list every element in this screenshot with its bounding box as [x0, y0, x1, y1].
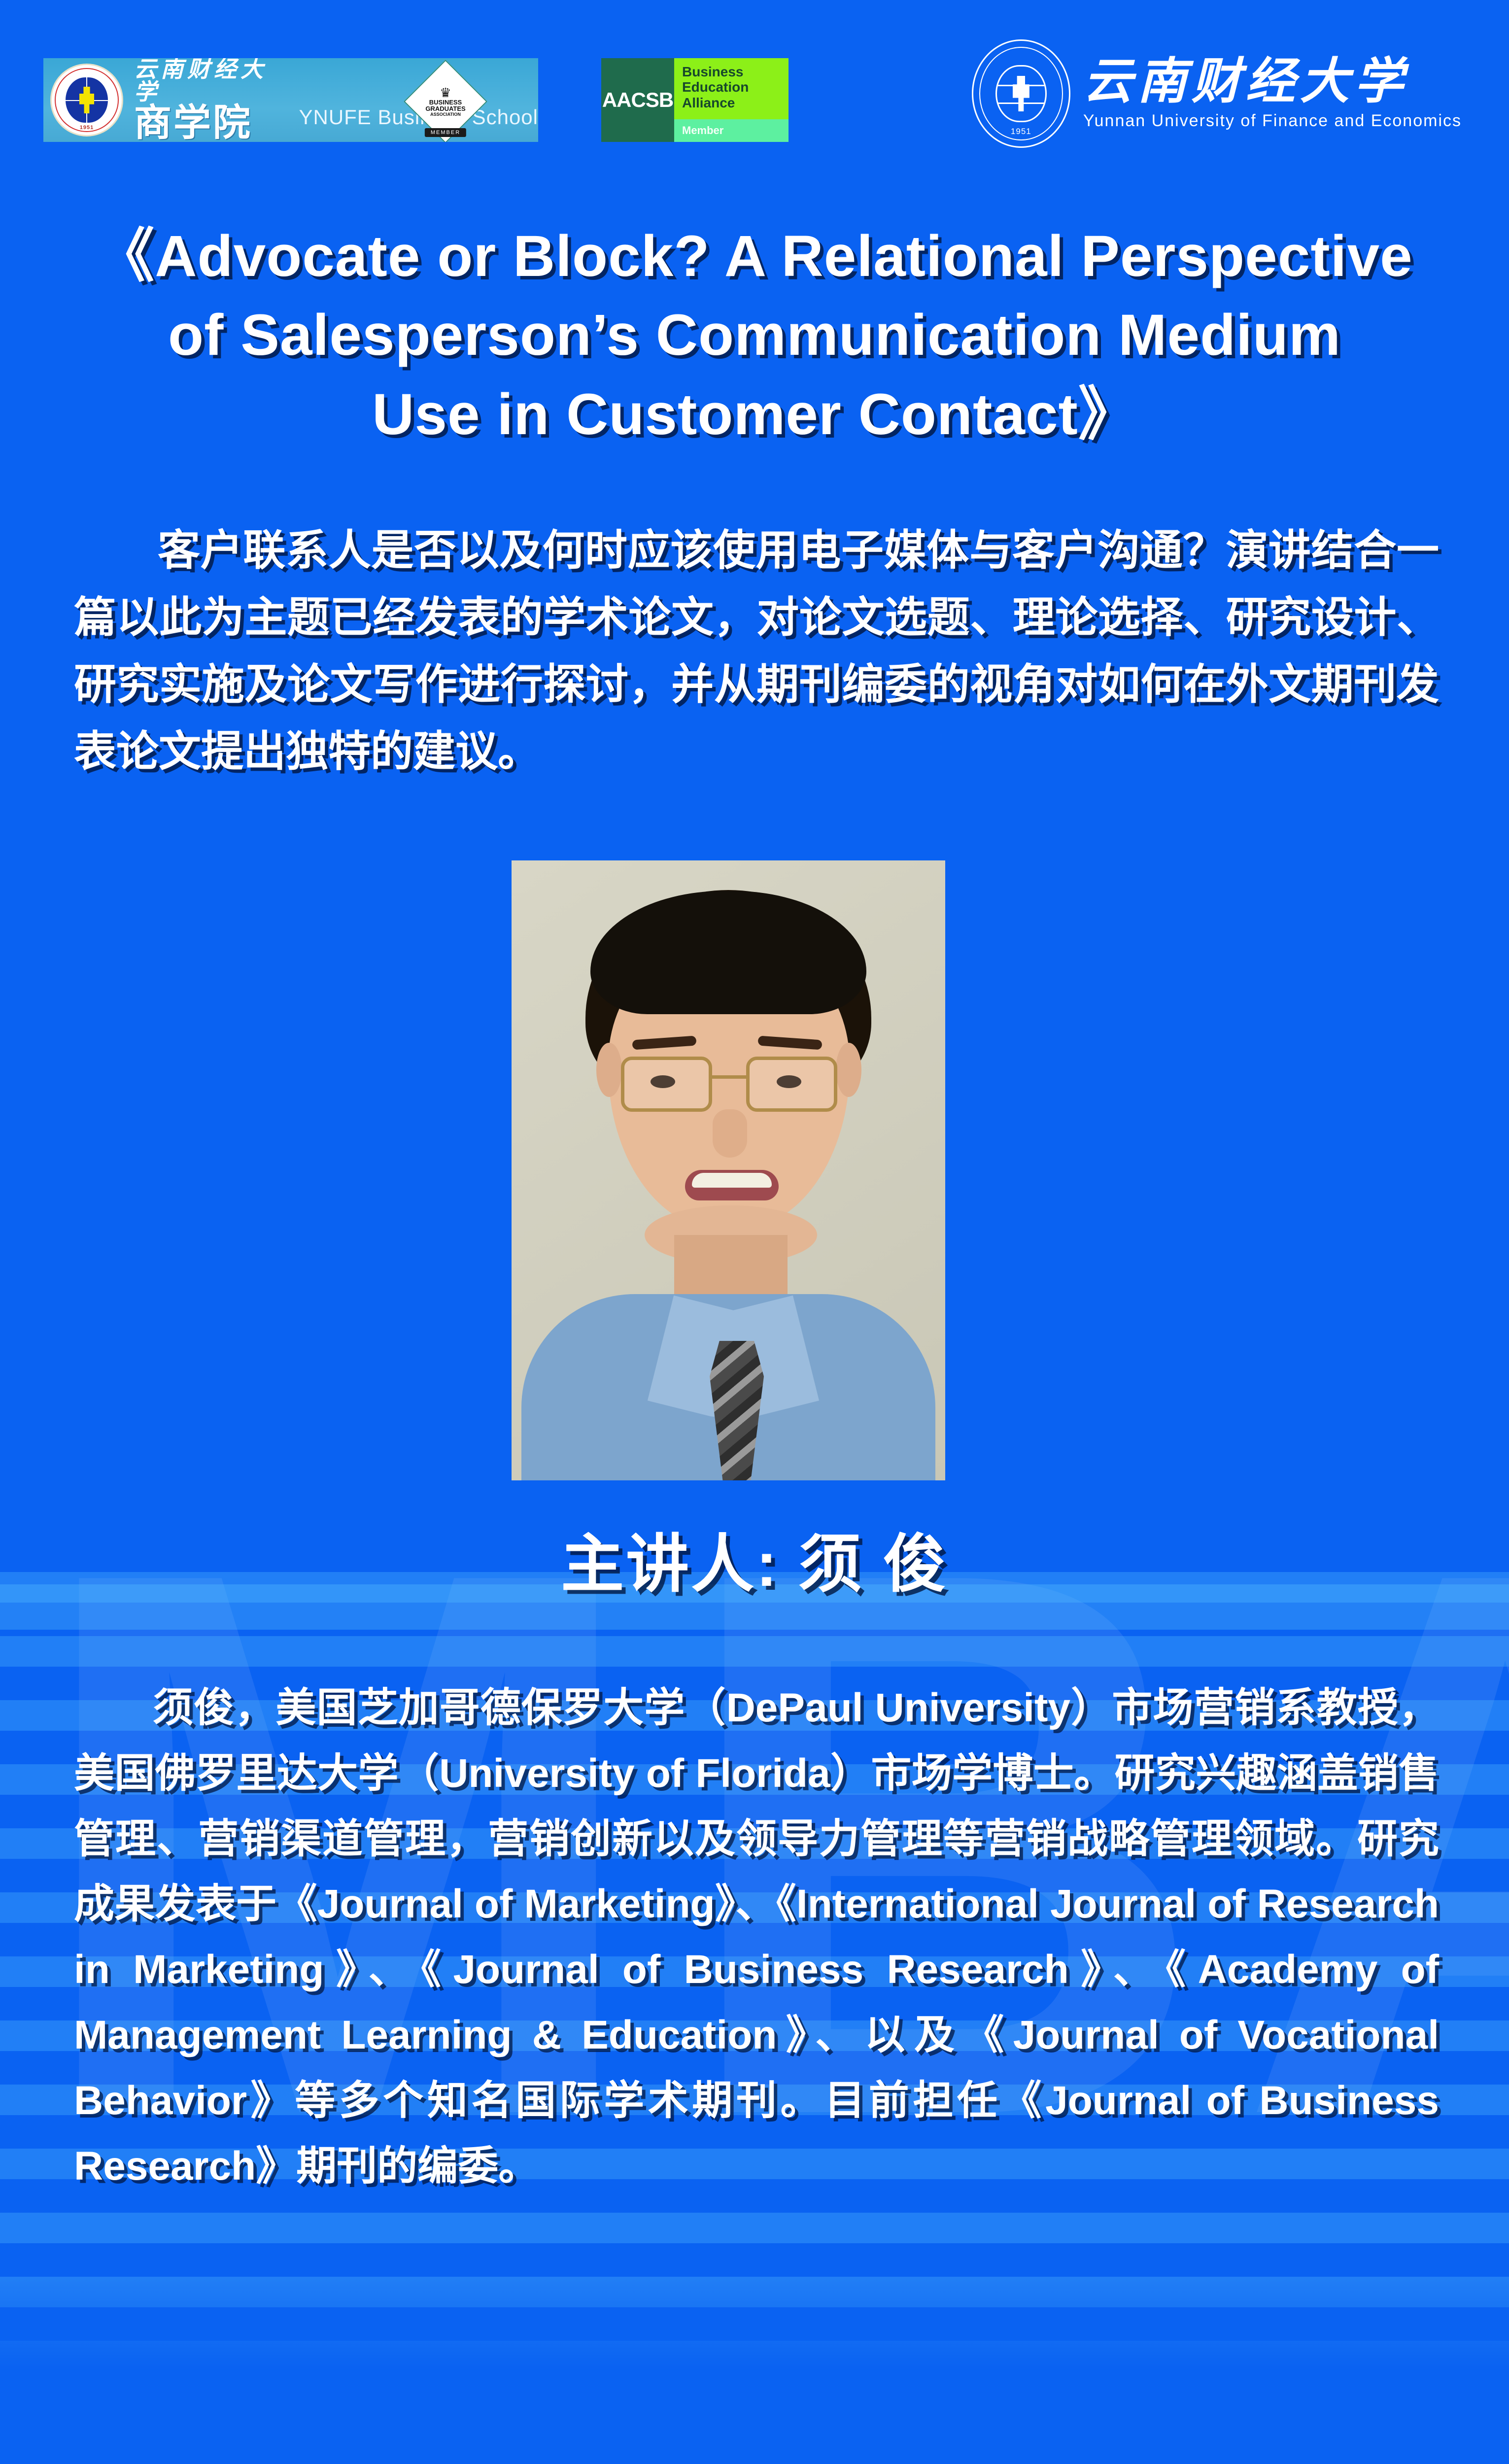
university-logo-text: 云南财经大学 Yunnan University of Finance and …	[1083, 57, 1462, 131]
portrait-teeth	[692, 1173, 772, 1188]
university-seal-icon: 1951	[972, 39, 1070, 148]
title-line-1: 《Advocate or Block? A Relational Perspec…	[74, 217, 1435, 296]
seal-year: 1951	[973, 127, 1069, 137]
portrait-ear-right	[836, 1043, 861, 1097]
crown-icon: ♛	[440, 86, 451, 99]
poster-title: 《Advocate or Block? A Relational Perspec…	[74, 217, 1435, 454]
aacsb-right-panel: Business Education Alliance Member	[674, 58, 789, 142]
globe-icon	[66, 77, 108, 123]
aacsb-member-label: Member	[674, 119, 789, 142]
portrait-mouth	[685, 1170, 779, 1200]
bga-line-2: GRADUATES	[425, 105, 465, 112]
bga-badge: ♛ BUSINESS GRADUATES ASSOCIATION MEMBER	[406, 62, 485, 141]
crest-figure-icon	[79, 87, 94, 113]
university-logo: 1951 云南财经大学 Yunnan University of Finance…	[972, 39, 1462, 148]
aacsb-line-3: Alliance	[682, 95, 789, 110]
abstract-text: 客户联系人是否以及何时应该使用电子媒体与客户沟通？演讲结合一篇以此为主题已经发表…	[74, 517, 1439, 786]
speaker-bio: 须俊，美国芝加哥德保罗大学（DePaul University）市场营销系教授，…	[74, 1676, 1439, 2199]
aacsb-alliance-text: Business Education Alliance	[674, 58, 789, 119]
portrait-glasses-right	[746, 1057, 837, 1112]
speaker-name-line: 主讲人: 须 俊	[0, 1513, 1509, 1604]
school-logo-text: 云南财经大学 商学院	[134, 58, 284, 142]
business-school-logo: 1951 云南财经大学 商学院 YNUFE Business School ♛ …	[43, 58, 538, 142]
seal-globe-icon	[995, 65, 1047, 122]
aacsb-badge: AACSB Business Education Alliance Member	[601, 58, 789, 142]
header: 1951 云南财经大学 商学院 YNUFE Business School ♛ …	[0, 0, 1509, 163]
bga-line-3: ASSOCIATION	[430, 112, 461, 117]
speaker-photo	[512, 860, 945, 1480]
portrait-glasses-bridge	[712, 1075, 746, 1079]
portrait-glasses-left	[621, 1057, 712, 1112]
crest-year: 1951	[52, 125, 122, 131]
aacsb-line-2: Education	[682, 79, 789, 95]
bga-line-1: BUSINESS	[429, 99, 462, 106]
title-line-3: Use in Customer Contact》	[74, 375, 1435, 454]
portrait-ear-left	[596, 1043, 622, 1097]
school-university-name-cn: 云南财经大学	[134, 58, 284, 103]
university-name-cn: 云南财经大学	[1083, 57, 1462, 106]
title-line-2: of Salesperson’s Communication Medium	[74, 296, 1435, 375]
aacsb-line-1: Business	[682, 64, 789, 79]
bga-member-tag: MEMBER	[425, 128, 466, 137]
school-crest-icon: 1951	[50, 64, 123, 137]
poster-root: MBA 1951 云南财经大学 商学院 YNUFE Business Schoo…	[0, 0, 1509, 2464]
seal-figure-icon	[1013, 76, 1029, 111]
aacsb-acronym: AACSB	[601, 58, 674, 142]
university-name-en: Yunnan University of Finance and Economi…	[1083, 111, 1462, 131]
school-name-cn: 商学院	[134, 104, 284, 142]
portrait-nose	[713, 1109, 747, 1158]
